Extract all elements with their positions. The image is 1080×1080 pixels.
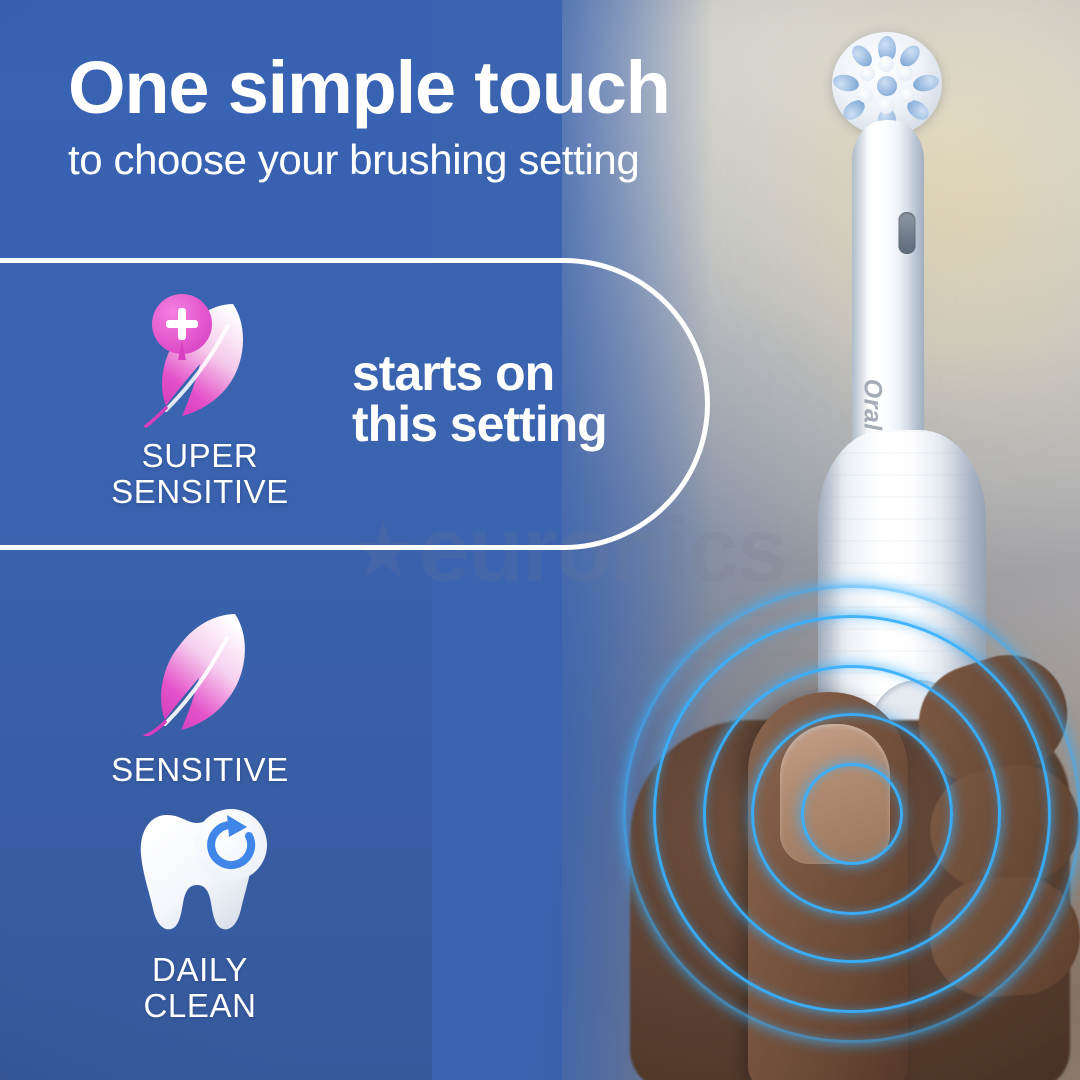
vignette-overlay	[0, 0, 1080, 1080]
promo-image: ★ euronics Oral-B	[0, 0, 1080, 1080]
